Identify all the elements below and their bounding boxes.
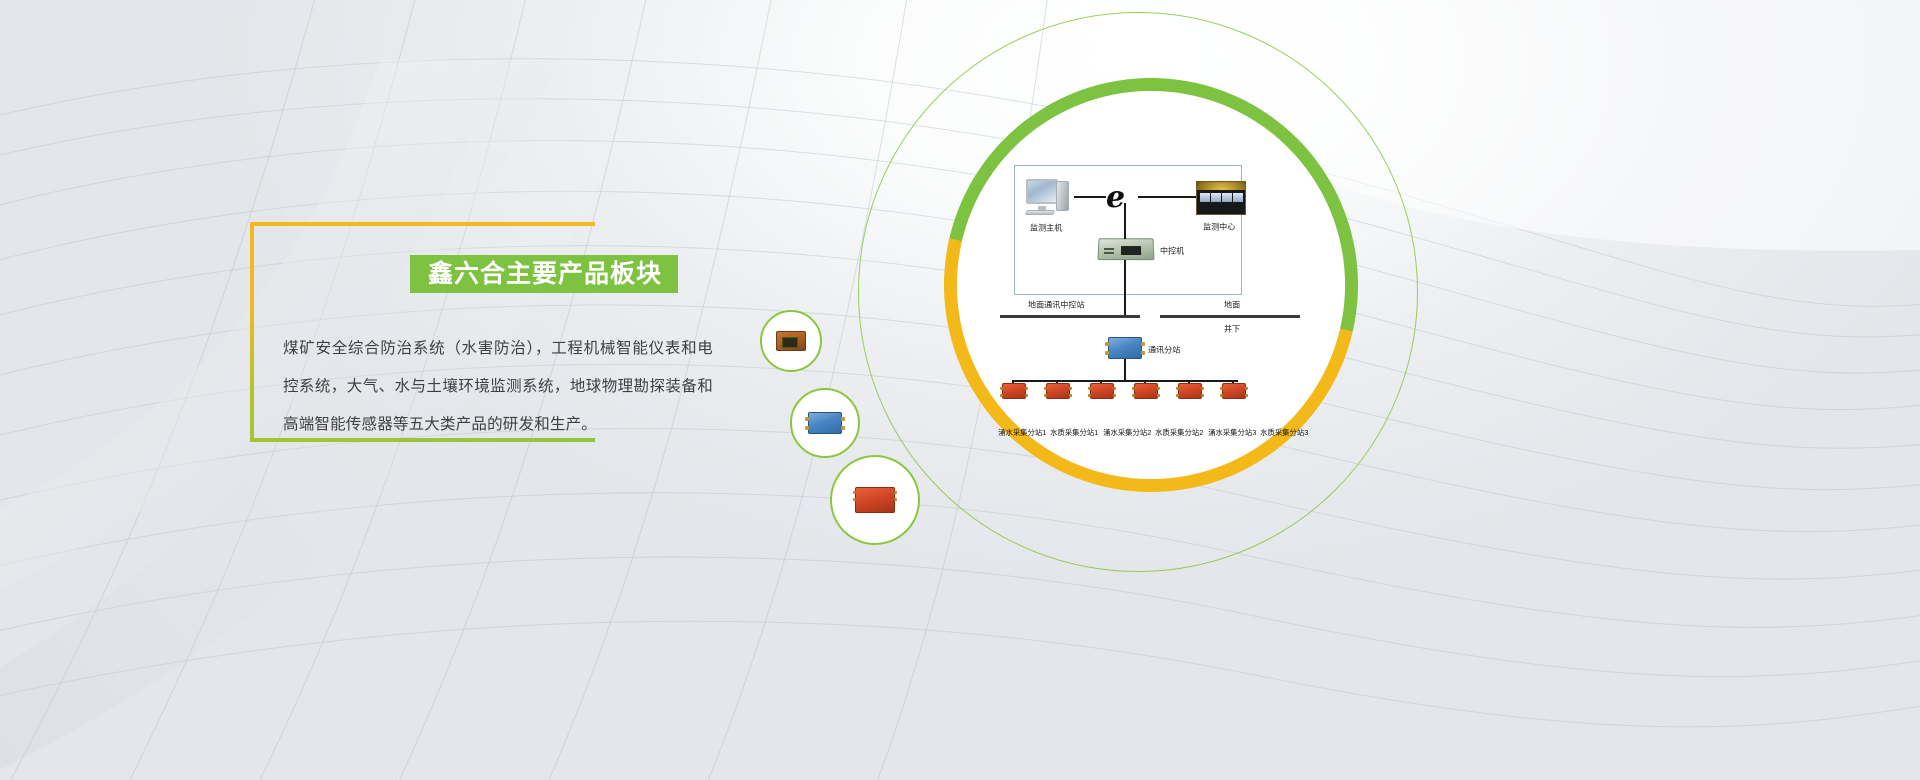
station-labels-row: 涌水采集分站1 水质采集分站1 涌水采集分站2 水质采集分站2 涌水采集分站3 … <box>996 427 1306 438</box>
comm-substation-icon-wrap <box>1108 337 1142 359</box>
monitor-host-icon-wrap <box>1026 179 1070 217</box>
station-label: 水质采集分站2 <box>1155 427 1203 437</box>
wire-server-to-substation <box>1124 260 1126 316</box>
bubble-brown-device <box>760 310 822 372</box>
station-label: 水质采集分站1 <box>1051 427 1099 437</box>
wire-host-to-internet <box>1074 196 1106 198</box>
central-control-icon-wrap <box>1098 238 1154 260</box>
label-monitor-host: 监测主机 <box>1030 222 1062 233</box>
wire-internet-to-center <box>1138 196 1196 198</box>
label-central-control: 中控机 <box>1160 245 1184 256</box>
label-ground-station: 地面通讯中控站 <box>1028 299 1085 310</box>
control-room-screens-icon <box>1196 181 1246 215</box>
station-label: 涌水采集分站1 <box>998 427 1046 437</box>
description-paragraph: 煤矿安全综合防治系统（水害防治），工程机械智能仪表和电控系统，大气、水与土壤环境… <box>283 330 713 444</box>
monitor-center-icon-wrap <box>1196 181 1246 215</box>
page-title: 鑫六合主要产品板块 <box>428 255 662 293</box>
label-underground: 井下 <box>1224 323 1240 334</box>
red-explosion-proof-box-icon <box>1090 383 1114 399</box>
section-title-banner: 鑫六合主要产品板块 <box>410 255 678 293</box>
red-explosion-proof-box-icon <box>1134 383 1158 399</box>
desktop-computer-icon <box>1026 179 1070 217</box>
red-explosion-proof-box-icon <box>1002 383 1026 399</box>
blue-explosion-proof-box-icon <box>1108 337 1142 359</box>
wire-internet-to-server <box>1124 203 1126 239</box>
red-explosion-proof-box-icon <box>1178 383 1202 399</box>
brown-instrument-icon <box>776 331 806 351</box>
bubble-blue-device <box>790 388 860 458</box>
server-rack-icon <box>1097 238 1154 260</box>
label-comm-substation: 通讯分站 <box>1148 344 1180 355</box>
system-diagram: 监测主机 e 监测中心 中控机 地面通讯中控站 <box>880 40 1500 600</box>
blue-explosion-proof-box-icon <box>808 412 842 434</box>
ground-divider-right <box>1160 315 1300 318</box>
label-ground: 地面 <box>1224 299 1240 310</box>
description-block: 煤矿安全综合防治系统（水害防治），工程机械智能仪表和电控系统，大气、水与土壤环境… <box>283 330 713 444</box>
wire-substation-down <box>1124 359 1126 381</box>
schematic-content: 监测主机 e 监测中心 中控机 地面通讯中控站 <box>1000 165 1300 425</box>
bubble-red-device <box>830 455 920 545</box>
wire-station-bus <box>1012 380 1238 382</box>
station-label: 水质采集分站3 <box>1260 427 1308 437</box>
internet-explorer-e-icon: e <box>1106 183 1125 213</box>
station-label: 涌水采集分站2 <box>1103 427 1151 437</box>
red-explosion-proof-box-icon <box>1046 383 1070 399</box>
red-explosion-proof-box-icon <box>1222 383 1246 399</box>
station-label: 涌水采集分站3 <box>1208 427 1256 437</box>
red-explosion-proof-box-icon <box>855 487 895 513</box>
ground-divider-left <box>1000 315 1140 318</box>
label-monitor-center: 监测中心 <box>1203 221 1235 232</box>
